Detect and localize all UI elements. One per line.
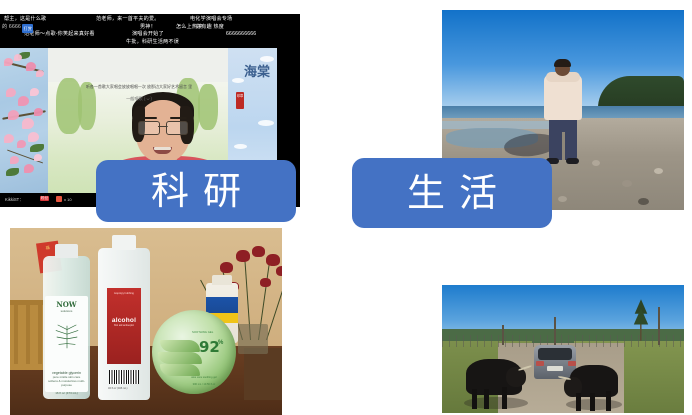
danmaku-comment: 演唱会开始了	[132, 31, 164, 39]
speaker-brow-right	[170, 117, 187, 119]
speaker-teeth	[154, 147, 171, 150]
speaker-brow-left	[140, 117, 157, 119]
glycerin-bottle: NOW solutions vegetable glycerin pure mi…	[43, 256, 90, 399]
stream-overlay-text-2: 一般唱歌 (·ᴗ·)	[50, 96, 228, 102]
aloe-percent-unit: %	[218, 340, 223, 346]
danmaku-comment: 范老师，来一首平夫的爱。	[96, 16, 160, 24]
haitang-title: 海棠	[244, 64, 270, 81]
household-products-photo: 福 NOW s	[10, 228, 282, 415]
aloe-top-text: SOOTHING GEL	[192, 330, 213, 334]
suv-taillight-right	[568, 361, 576, 366]
yak-left-head	[506, 367, 526, 387]
danmaku-comment: 牛批，科研生活两不误	[126, 39, 179, 47]
stream-overlay-text: 听各一首歌大家唱会放放唱唱一次 放那边大家好艺术留言 里	[50, 84, 228, 90]
suv-license-plate	[547, 366, 563, 371]
subject-cap	[554, 59, 571, 67]
pine-branch-icon	[53, 322, 81, 352]
danmaku-badge: 打赏	[22, 24, 33, 33]
webcam-top-band	[48, 48, 228, 82]
danmaku-comment: 好有趣 热度	[196, 24, 224, 32]
yaks-on-road-photo	[442, 285, 684, 413]
pine-tree-icon	[632, 299, 650, 341]
blossom-side-panel	[0, 48, 48, 193]
gift-icon[interactable]	[56, 196, 62, 202]
aloe-percent-value: 92	[199, 338, 220, 356]
alcohol-desc: first aid antiseptic	[107, 324, 141, 327]
stream-footer-badge: 粉丝	[40, 196, 49, 201]
seal-stamp: 印章	[236, 92, 244, 109]
brand-name: NOW	[45, 296, 88, 309]
product-note: softens & moisturizes multi-purpose	[45, 379, 88, 387]
category-label-research-text: 科研	[137, 172, 255, 210]
alcohol-brand: alcohol	[107, 295, 141, 324]
suv-taillight-left	[536, 361, 544, 366]
danmaku-comment: 6666666666	[226, 31, 256, 39]
aloe-volume: 300 mL / 10.56 fl oz	[176, 383, 232, 386]
alcohol-volume: 32 fl oz (946 mL)	[108, 387, 127, 390]
barcode	[109, 370, 139, 384]
danmaku-overlay: 帮主，这是什么歌 范老师，来一首平夫的爱。 电化学演唱会专场 的 6666 男神…	[0, 14, 300, 48]
category-label-life-text: 生活	[393, 174, 511, 212]
suv-rear-window	[538, 348, 572, 360]
slide-canvas: 帮主，这是什么歌 范老师，来一首平夫的爱。 电化学演唱会专场 的 6666 男神…	[0, 0, 692, 415]
glycerin-cap	[55, 244, 78, 258]
stream-footer-count: x 10	[64, 197, 72, 202]
brand-sub: solutions	[45, 309, 88, 313]
alcohol-cap	[112, 235, 136, 250]
subject-shoe-right	[566, 158, 579, 164]
alcohol-label: isopropyl rubbing alcohol first aid anti…	[107, 288, 141, 364]
category-label-research[interactable]: 科研	[96, 160, 296, 222]
wipes-lid	[212, 275, 232, 285]
aloe-vera-gel-jar: SOOTHING GEL 92 % aloe vera soothing gel…	[152, 310, 236, 394]
cabinet	[244, 348, 282, 400]
alcohol-bottle: isopropyl rubbing alcohol first aid anti…	[98, 248, 150, 400]
product-volume: 16 fl oz (473 mL)	[45, 391, 88, 395]
danmaku-comment: 的 6666	[2, 24, 21, 32]
category-label-life[interactable]: 生活	[352, 158, 552, 228]
leg-gap	[562, 132, 565, 160]
glasses-icon	[138, 121, 188, 133]
alcohol-sub: isopropyl rubbing	[107, 288, 141, 295]
flower-vase	[238, 324, 268, 354]
danmaku-comment: 男神！	[140, 24, 156, 32]
stream-footer-username: KikkiST：	[5, 197, 23, 203]
danmaku-comment: 范老师～点歌-你笑起来真好看	[24, 31, 95, 39]
danmaku-comment: 电化学演唱会专场	[190, 16, 232, 24]
danmaku-comment: 帮主，这是什么歌	[4, 16, 46, 24]
glycerin-label: NOW solutions vegetable glycerin pure mi…	[45, 296, 88, 392]
aloe-desc: aloe vera soothing gel	[176, 376, 232, 379]
